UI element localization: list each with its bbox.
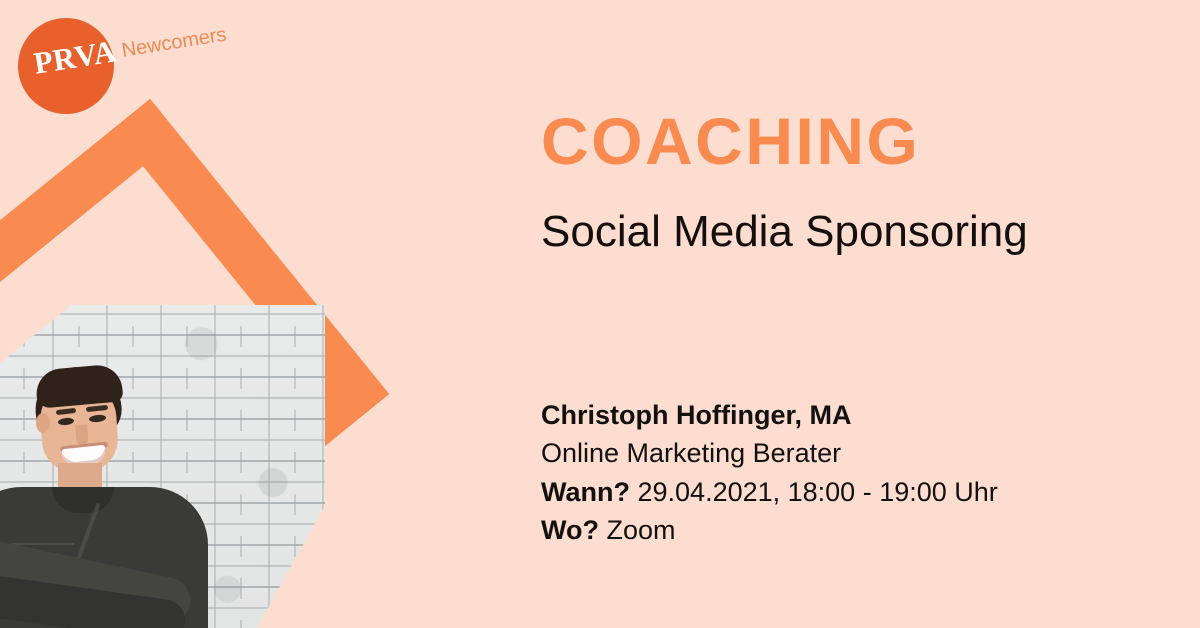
event-poster: PRVA Newcomers COACHING Social Media Spo… — [0, 0, 1200, 628]
page-title: COACHING — [541, 108, 920, 174]
person-figure — [0, 305, 325, 628]
speaker-details: Christoph Hoffinger, MA Online Marketing… — [541, 396, 1181, 549]
photo-image — [0, 305, 325, 628]
person-ear — [36, 413, 50, 433]
speaker-name: Christoph Hoffinger, MA — [541, 396, 1181, 434]
person-hair-front — [35, 363, 124, 408]
speaker-photo — [0, 305, 325, 628]
person-nose — [75, 425, 88, 446]
event-datetime-label: Wann? — [541, 477, 630, 507]
content-column: COACHING Social Media Sponsoring Christo… — [541, 0, 1181, 628]
event-datetime: Wann? 29.04.2021, 18:00 - 19:00 Uhr — [541, 473, 1181, 511]
event-datetime-value: 29.04.2021, 18:00 - 19:00 Uhr — [638, 477, 998, 507]
event-location-label: Wo? — [541, 515, 599, 545]
speaker-role: Online Marketing Berater — [541, 434, 1181, 472]
page-subtitle: Social Media Sponsoring — [541, 207, 1028, 258]
prva-newcomers-logo: PRVA Newcomers — [18, 18, 318, 116]
event-location: Wo? Zoom — [541, 511, 1181, 549]
event-location-value: Zoom — [607, 515, 676, 545]
logo-newcomers-text: Newcomers — [120, 24, 228, 63]
